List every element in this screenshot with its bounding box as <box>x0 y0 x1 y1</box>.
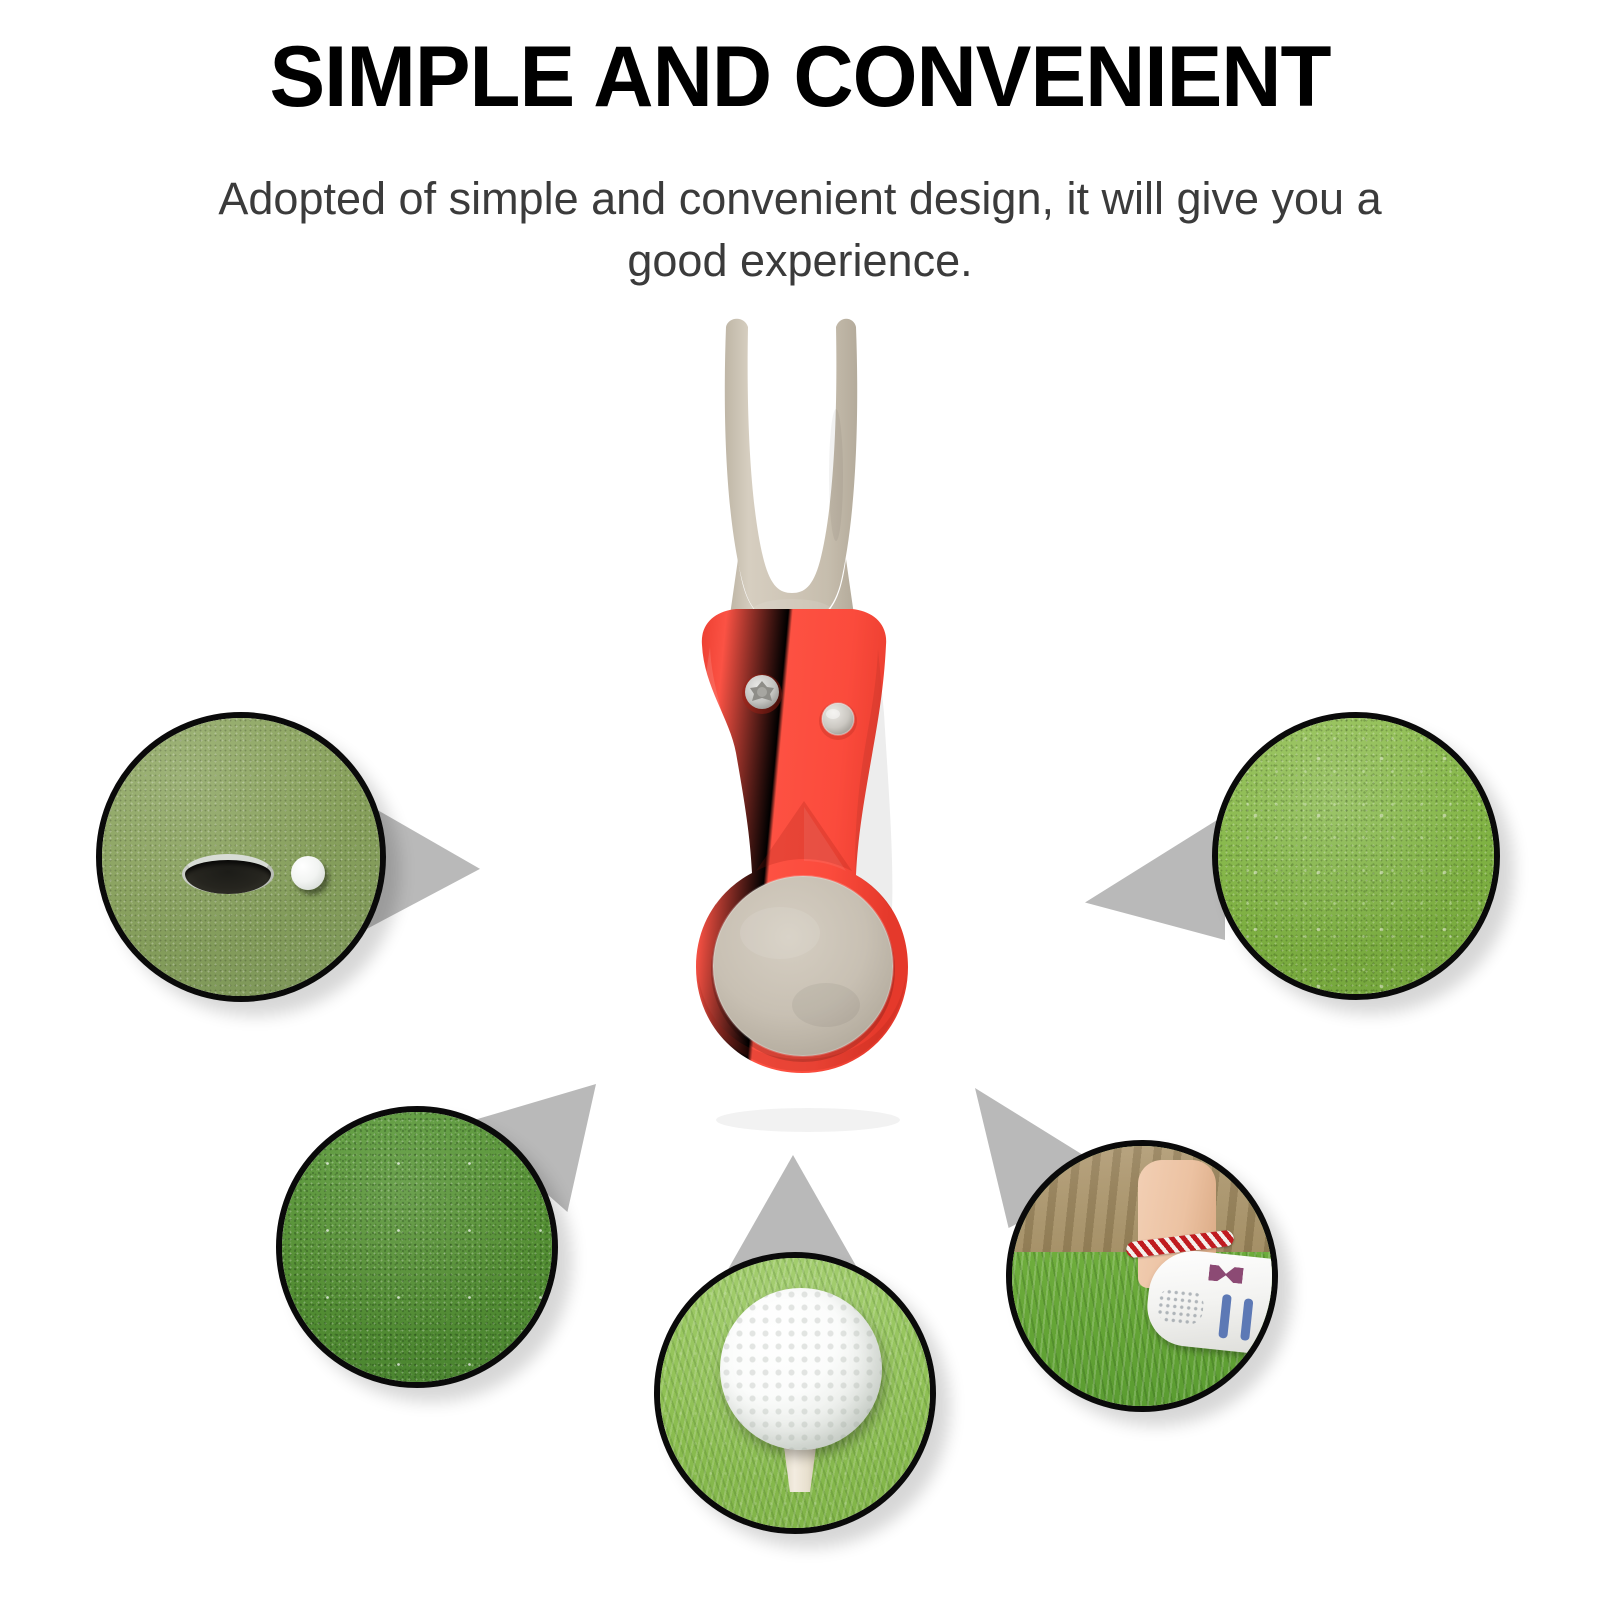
pointer-to-fine-turf-closeup <box>1085 815 1225 940</box>
bubble-ball-on-tee[interactable] <box>654 1252 936 1534</box>
gloved-hand-photo <box>1010 1144 1274 1408</box>
golf-ball <box>291 856 325 890</box>
ball-on-tee-photo <box>658 1256 932 1530</box>
bubble-putting-green-hole[interactable] <box>96 712 386 1002</box>
page-title: SIMPLE AND CONVENIENT <box>24 28 1576 127</box>
fine-turf-photo <box>1216 716 1496 996</box>
bubble-dense-turf-closeup[interactable] <box>276 1106 558 1388</box>
bubble-gloved-hand-on-grass[interactable] <box>1006 1140 1278 1412</box>
turf-speckle-texture <box>1216 716 1496 996</box>
glove-stripe <box>1240 1298 1253 1341</box>
glove-palm-grip <box>1156 1287 1205 1326</box>
torx-screw <box>742 674 782 714</box>
golf-hole-cup <box>182 854 274 894</box>
glove-stripe <box>1218 1294 1232 1339</box>
glove-brand-logo <box>1208 1264 1243 1283</box>
product-feature-banner: SIMPLE AND CONVENIENT Adopted of simple … <box>0 0 1600 1600</box>
golf-divot-tool <box>640 315 960 1145</box>
fork-head <box>725 319 857 637</box>
putting-green-photo <box>100 716 382 998</box>
bubble-fine-turf-closeup[interactable] <box>1212 712 1500 1000</box>
dense-turf-photo <box>280 1110 554 1384</box>
page-subtitle: Adopted of simple and convenient design,… <box>170 168 1430 292</box>
golf-ball <box>720 1288 882 1450</box>
turf-speckle-texture <box>280 1110 554 1384</box>
ball-marker-disc <box>711 876 895 1062</box>
release-button <box>819 702 857 740</box>
ball-dimples <box>720 1288 882 1450</box>
